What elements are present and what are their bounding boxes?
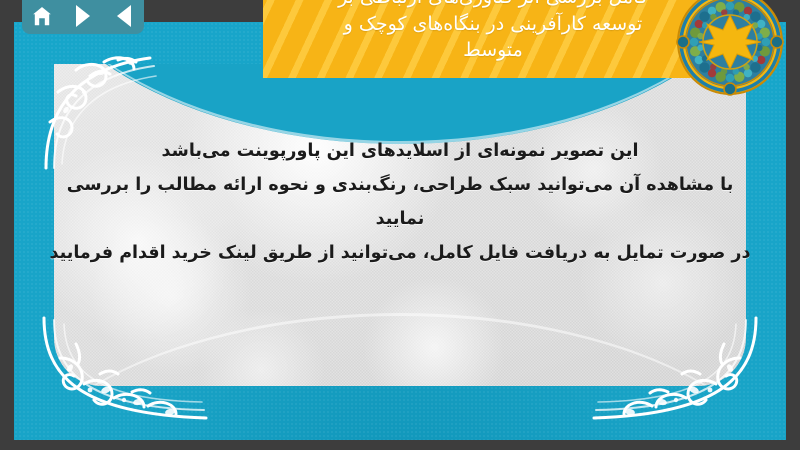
back-button[interactable] (109, 3, 139, 29)
back-icon (117, 5, 131, 27)
medallion-ornament (676, 0, 784, 96)
home-button[interactable] (27, 3, 57, 29)
navigation-bar[interactable] (22, 0, 144, 34)
slide-body-text: این تصویر نمونه‌ای از اسلایدهای این پاور… (14, 134, 786, 271)
slide-title-banner: کامل بررسی اثر فناوری‌های ارتباطی بر توس… (263, 0, 723, 78)
image-viewer-background: این تصویر نمونه‌ای از اسلایدهای این پاور… (0, 0, 800, 450)
forward-button[interactable] (68, 3, 98, 29)
slide-title: کامل بررسی اثر فناوری‌های ارتباطی بر توس… (263, 0, 723, 64)
presentation-slide: این تصویر نمونه‌ای از اسلایدهای این پاور… (14, 22, 786, 440)
home-icon (30, 5, 54, 27)
forward-icon (76, 5, 90, 27)
